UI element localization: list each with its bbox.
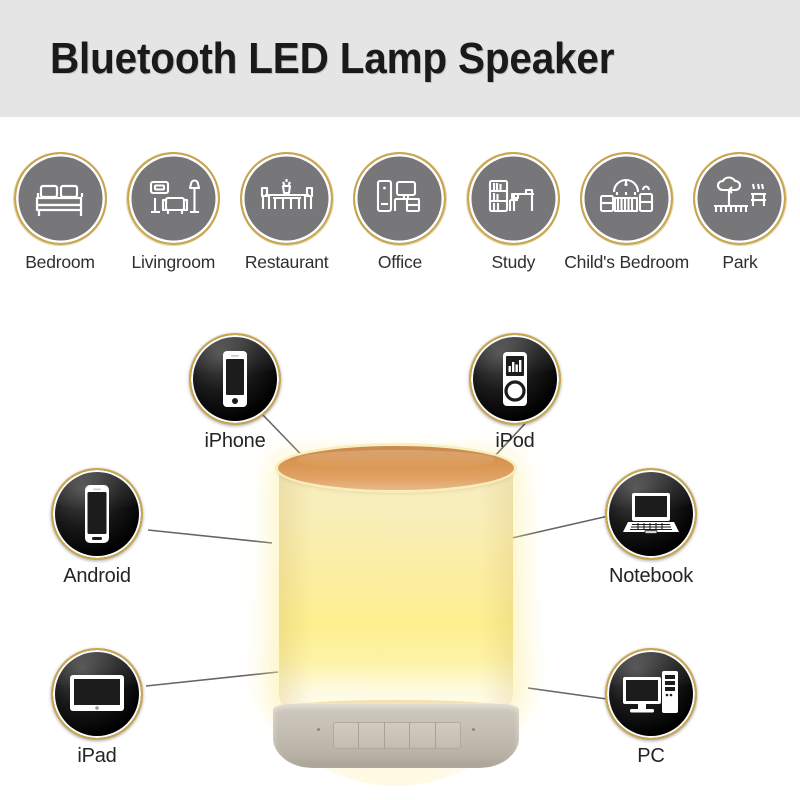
device-item-android[interactable]: Android (22, 468, 172, 588)
scene-item-childs-bedroom[interactable]: Child's Bedroom (577, 152, 677, 273)
scene-item-park[interactable]: Park (690, 152, 790, 273)
scene-item-restaurant[interactable]: Restaurant (237, 152, 337, 273)
livingroom-sofa-icon (127, 152, 220, 245)
device-label: Notebook (609, 565, 693, 588)
scene-label: Study (491, 252, 535, 273)
header-banner: Bluetooth LED Lamp Speaker (0, 0, 800, 117)
control-button-strip[interactable] (333, 722, 461, 749)
lamp-diffuser-body (279, 462, 513, 716)
base-dot-right (472, 728, 475, 731)
laptop-icon (605, 468, 697, 560)
control-button[interactable] (359, 723, 384, 748)
scene-label: Livingroom (132, 252, 216, 273)
infographic-canvas: Bluetooth LED Lamp Speaker Bedroom (0, 0, 800, 800)
restaurant-table-icon (240, 152, 333, 245)
ipod-icon (469, 333, 561, 425)
device-item-iphone[interactable]: iPhone (160, 333, 310, 453)
device-item-ipad[interactable]: iPad (22, 648, 172, 768)
control-button[interactable] (410, 723, 435, 748)
device-label: iPad (77, 745, 116, 768)
lamp-speaker-product (265, 452, 527, 770)
tablet-icon (51, 648, 143, 740)
scene-item-study[interactable]: Study (463, 152, 563, 273)
scene-item-livingroom[interactable]: Livingroom (123, 152, 223, 273)
control-button[interactable] (334, 723, 359, 748)
speaker-base (273, 704, 519, 768)
device-item-ipod[interactable]: iPod (440, 333, 590, 453)
device-label: PC (637, 745, 664, 768)
crib-icon (580, 152, 673, 245)
desktop-pc-icon (605, 648, 697, 740)
park-tree-icon (693, 152, 786, 245)
control-button[interactable] (436, 723, 460, 748)
android-phone-icon (51, 468, 143, 560)
iphone-icon (189, 333, 281, 425)
scene-label: Restaurant (245, 252, 329, 273)
scene-item-bedroom[interactable]: Bedroom (10, 152, 110, 273)
page-title: Bluetooth LED Lamp Speaker (50, 34, 614, 84)
scene-label: Park (722, 252, 757, 273)
bookshelf-icon (467, 152, 560, 245)
scene-icons-row: Bedroom Livingroom (0, 152, 800, 273)
scene-label: Bedroom (25, 252, 95, 273)
office-desk-icon (353, 152, 446, 245)
base-dot-left (317, 728, 320, 731)
scene-label: Office (378, 252, 422, 273)
device-label: Android (63, 565, 131, 588)
control-button[interactable] (385, 723, 410, 748)
device-item-pc[interactable]: PC (576, 648, 726, 768)
scene-label: Child's Bedroom (564, 252, 689, 273)
bed-icon (14, 152, 107, 245)
device-label: iPod (495, 430, 534, 453)
device-item-notebook[interactable]: Notebook (576, 468, 726, 588)
scene-item-office[interactable]: Office (350, 152, 450, 273)
device-label: iPhone (204, 430, 265, 453)
